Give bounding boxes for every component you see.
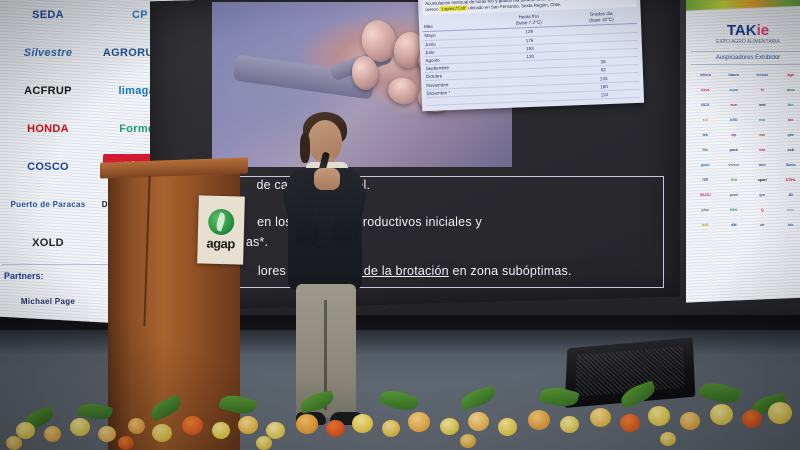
mini-logo: ITR xyxy=(691,173,720,188)
mini-logo: NCG xyxy=(691,98,720,113)
mini-logo: nova xyxy=(691,83,720,98)
sponsor-logo: Silvestre xyxy=(2,34,94,72)
mini-logo: bio xyxy=(777,98,800,113)
mini-logo: vita xyxy=(748,143,777,158)
mini-logo: kin xyxy=(777,113,800,128)
speaker-hands xyxy=(314,168,340,190)
mini-logo: qbe xyxy=(777,128,800,143)
flower xyxy=(256,436,272,450)
cell-mes xyxy=(426,95,495,106)
table-caption-highlight: 'Lapins'/'Colt' xyxy=(440,5,467,11)
mini-logo: aqua xyxy=(720,83,749,98)
flower xyxy=(6,436,22,450)
mini-logo: tecbox xyxy=(748,68,777,83)
flower xyxy=(70,418,90,436)
flower xyxy=(182,416,203,435)
mini-logo: tek xyxy=(691,128,720,143)
agap-logo-icon xyxy=(208,209,235,236)
mini-logo: pack xyxy=(720,143,749,158)
mini-logo: STIHL xyxy=(777,173,800,188)
mini-logo: prod xyxy=(720,188,749,203)
mini-logo: H2O xyxy=(720,203,749,218)
mini-logo: Q xyxy=(748,203,777,218)
mini-logo: vip xyxy=(720,128,749,143)
flower xyxy=(768,402,792,424)
flower xyxy=(742,410,762,428)
sponsor-logo: Puerto de Paracas xyxy=(2,186,94,224)
flower xyxy=(212,422,230,439)
auspiciadores-label: Auspiciadores Exhibidor xyxy=(691,51,800,65)
mini-logo: inflora xyxy=(691,68,720,83)
flower xyxy=(648,406,670,426)
mini-logo: arca xyxy=(777,83,800,98)
mini-logo: Gr8 xyxy=(720,173,749,188)
sponsor-banner-right: TAKie EXPO AGRO ALIMENTARIA Auspiciadore… xyxy=(686,0,800,303)
mini-logo: gro xyxy=(748,188,777,203)
mini-logo: fito xyxy=(691,143,720,158)
flower xyxy=(296,414,318,434)
flower xyxy=(128,418,145,434)
mini-logo: bell xyxy=(691,218,720,233)
agap-logo-text: agap xyxy=(206,236,235,252)
mini-logo: Santo xyxy=(777,158,800,173)
cell-horas-frio xyxy=(494,92,569,103)
flower xyxy=(440,418,459,435)
slide-data-table: Acumulación mensual de horas frío y grad… xyxy=(418,0,644,111)
mini-logo: futuro xyxy=(720,68,749,83)
sponsor-logo: ACFRUP xyxy=(2,72,94,110)
mini-logo: agri xyxy=(777,68,800,83)
flower xyxy=(528,410,550,430)
flower xyxy=(152,424,172,442)
cell-grados-dia: 113 xyxy=(569,89,640,100)
mini-logo: M xyxy=(748,83,777,98)
sponsor-logo: XOLD xyxy=(2,224,94,262)
sponsor-logo: COSCO xyxy=(2,148,94,186)
speaker-hair-side xyxy=(300,133,310,163)
flower xyxy=(98,426,116,442)
mini-logo: cir xyxy=(748,218,777,233)
mini-logo: tek xyxy=(777,218,800,233)
mini-logo: sun xyxy=(720,98,749,113)
mini-logo: eco xyxy=(748,113,777,128)
mini-logo: ARD xyxy=(720,113,749,128)
takie-brand-main: TAK xyxy=(727,22,757,39)
flower xyxy=(620,414,640,432)
mini-logo: guan xyxy=(691,158,720,173)
mini-logo: AM xyxy=(720,218,749,233)
mini-logo: unn xyxy=(748,158,777,173)
flower xyxy=(382,420,400,437)
mini-logo: vert xyxy=(748,98,777,113)
flower xyxy=(468,412,489,431)
flower xyxy=(590,408,611,427)
partner-logo: Michael Page xyxy=(2,283,94,321)
flower xyxy=(408,412,430,432)
flower xyxy=(660,432,676,446)
mini-logo: mec xyxy=(777,203,800,218)
flower xyxy=(710,404,733,425)
flower xyxy=(326,420,345,437)
mini-logo: pine xyxy=(691,203,720,218)
conference-photo: SEDA CP Silvestre AGRORURAL ACFRUP limag… xyxy=(0,0,800,450)
flower xyxy=(560,416,579,433)
flower xyxy=(498,418,517,436)
mini-logo: nor xyxy=(748,128,777,143)
sponsor-logo: HONDA xyxy=(2,110,94,148)
mini-logo: sport xyxy=(748,173,777,188)
sponsor-logo: SEDA xyxy=(2,0,94,34)
mini-logo: vivero xyxy=(720,158,749,173)
mini-logo: 4D xyxy=(777,188,800,203)
podium-sign-agap: agap xyxy=(197,195,245,264)
flower xyxy=(460,434,476,448)
mini-logo: sol xyxy=(691,113,720,128)
table-body: Mayo 129 Junio 176 Julio 193 xyxy=(423,24,640,106)
takie-brand: TAKie xyxy=(691,0,800,39)
takie-brand-accent: ie xyxy=(757,22,770,39)
mini-logo: cob xyxy=(777,143,800,158)
sponsor-logo-grid-right: inflora futuro tecbox agri nova aqua M a… xyxy=(691,68,800,233)
flower xyxy=(44,426,61,442)
mini-logo: ISUZU xyxy=(691,188,720,203)
flower xyxy=(118,436,134,450)
flower xyxy=(680,412,700,430)
flower xyxy=(352,414,373,433)
flower-arrangement xyxy=(0,374,800,450)
chill-hours-table: Mes Horas frío (base 7,2°C) Grados día (… xyxy=(423,9,640,106)
takie-subtitle: EXPO AGRO ALIMENTARIA xyxy=(691,39,800,49)
flower xyxy=(238,416,258,434)
